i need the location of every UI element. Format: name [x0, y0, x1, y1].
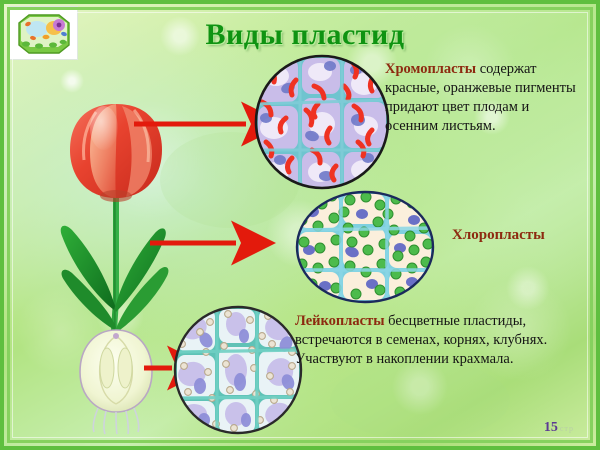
text-block-leucoplasts: Лейкопласты бесцветные пластиды, встреча…: [295, 312, 580, 369]
term-chromoplasts: Хромопласты: [385, 61, 476, 77]
page-title: Виды пластид: [160, 18, 450, 52]
page-number-value: 15: [544, 420, 558, 435]
plant-cell-diagram-icon: [9, 7, 77, 59]
plant-cell-thumbnail: [8, 6, 78, 60]
page-number: 15стр: [544, 420, 574, 436]
tulip-illustration: [61, 104, 169, 434]
text-block-chromoplasts: Хромопласты содержат красные, оранжевые …: [385, 60, 585, 136]
micrograph-chloroplasts: [295, 191, 433, 302]
term-leucoplasts: Лейкопласты: [295, 313, 385, 329]
text-block-chloroplasts: Хлоропласты: [452, 226, 592, 245]
page-number-unit: стр: [560, 424, 574, 433]
micrograph-leucoplasts: [175, 307, 301, 433]
term-chloroplasts: Хлоропласты: [452, 227, 545, 243]
slide-canvas: Виды пластид Хромопласты содержат красны…: [0, 0, 600, 450]
